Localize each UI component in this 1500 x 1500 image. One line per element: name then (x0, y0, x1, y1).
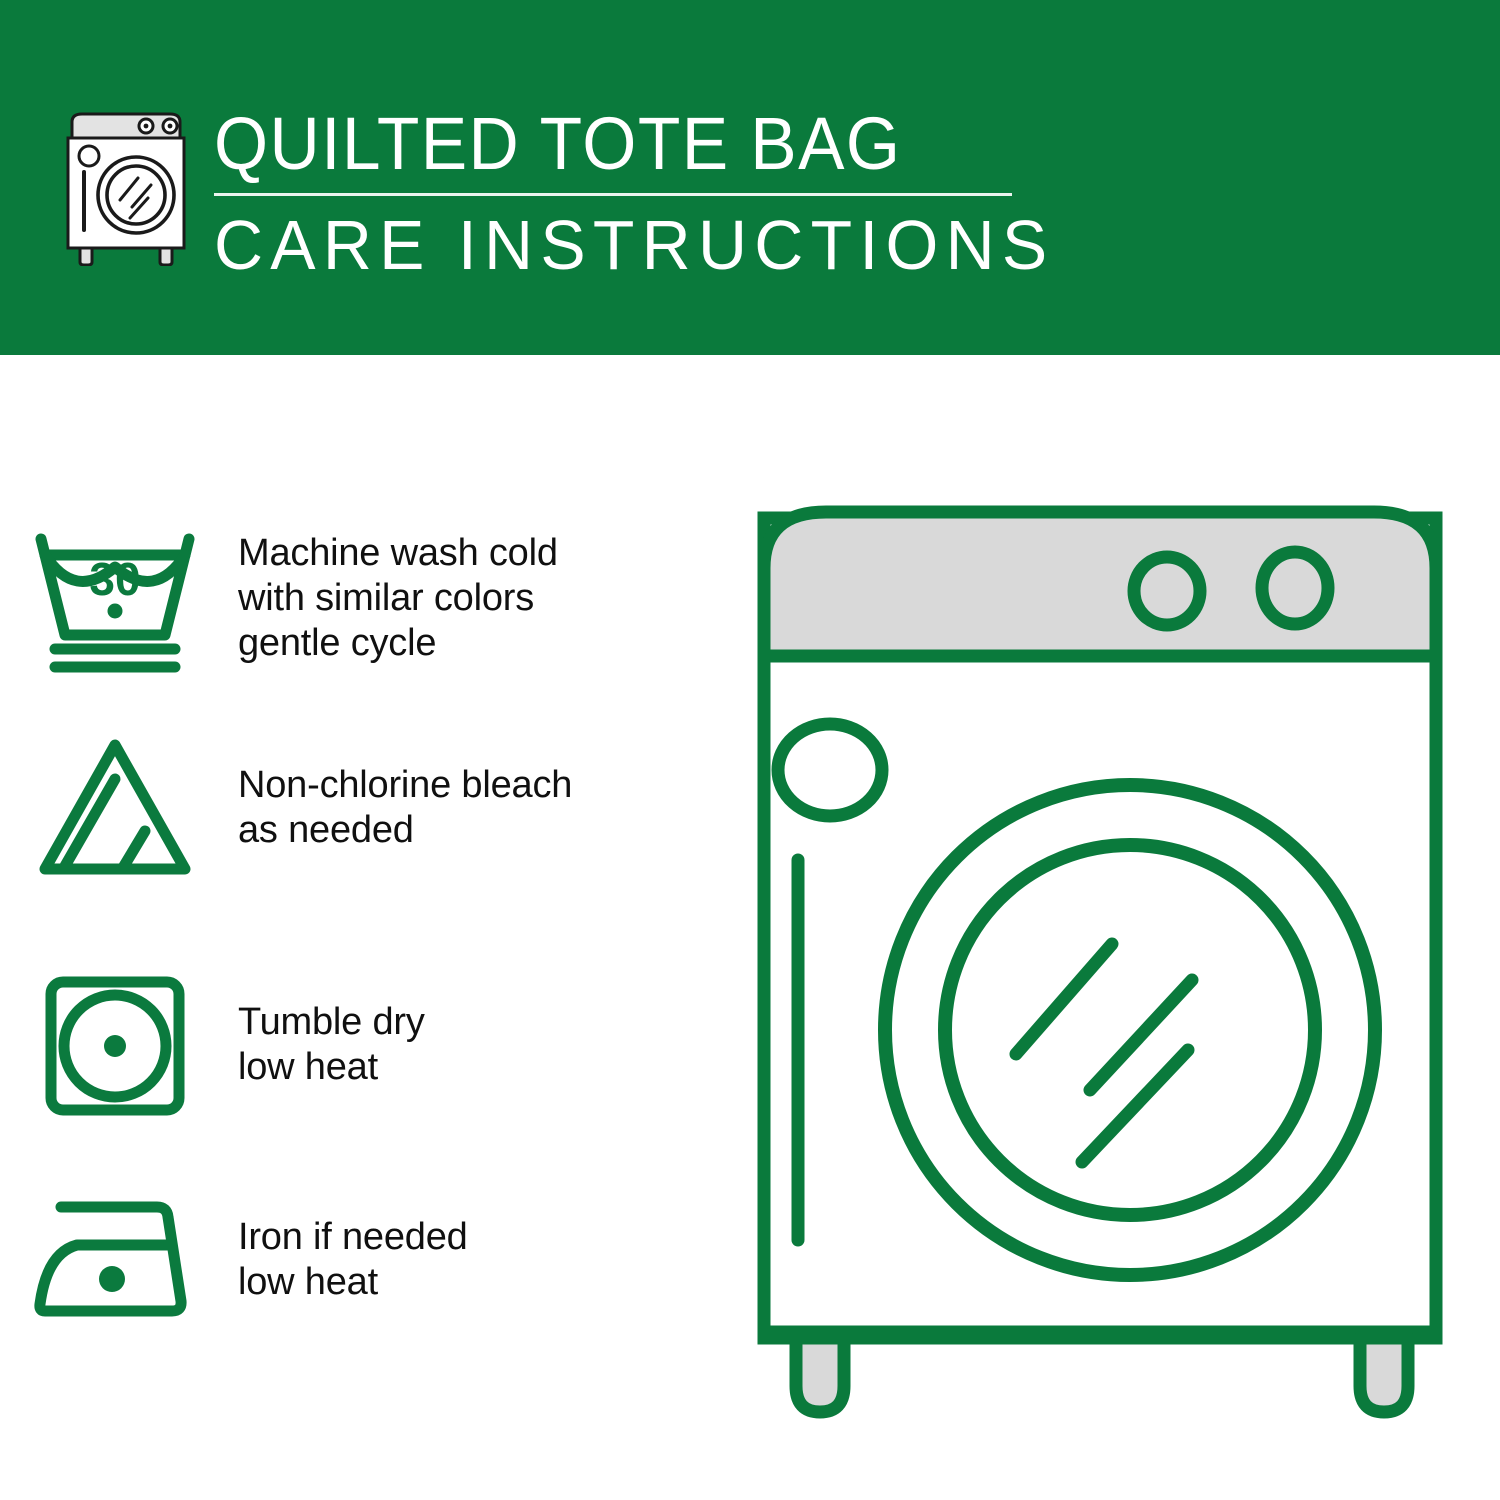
care-label-tumble-dry: Tumble dry low heat (230, 1000, 425, 1090)
foot-left (796, 1338, 844, 1412)
care-line: Tumble dry (238, 1000, 425, 1045)
page-subtitle: CARE INSTRUCTIONS (214, 207, 1009, 283)
care-line: gentle cycle (238, 621, 558, 666)
care-row-bleach: Non-chlorine bleach as needed (0, 723, 740, 893)
care-label-bleach: Non-chlorine bleach as needed (230, 763, 572, 853)
care-line: low heat (238, 1045, 425, 1090)
care-instruction-list: 30 Machine wash cold with similar colors… (0, 355, 740, 1500)
title-divider (214, 193, 1012, 196)
tumble-dry-low-icon (0, 970, 230, 1120)
care-label-machine-wash: Machine wash cold with similar colors ge… (230, 531, 558, 666)
front-load-washing-machine-illustration (740, 470, 1480, 1460)
care-line: low heat (238, 1260, 468, 1305)
care-line: Non-chlorine bleach (238, 763, 572, 808)
care-line: with similar colors (238, 576, 558, 621)
bleach-triangle-stripes-icon (0, 733, 230, 883)
iron-low-icon (0, 1185, 230, 1335)
care-line: Machine wash cold (238, 531, 558, 576)
care-instructions-page: QUILTED TOTE BAG CARE INSTRUCTIONS 30 (0, 0, 1500, 1500)
care-line: as needed (238, 808, 572, 853)
knob-left (1134, 557, 1200, 625)
header-text-block: QUILTED TOTE BAG CARE INSTRUCTIONS (214, 104, 1034, 283)
page-title: QUILTED TOTE BAG (214, 104, 985, 184)
wash-tub-30-gentle-icon: 30 (0, 523, 230, 673)
washing-machine-icon (62, 108, 190, 266)
knob-right (1262, 552, 1328, 624)
foot-right (1360, 1338, 1408, 1412)
care-line: Iron if needed (238, 1215, 468, 1260)
care-row-iron: Iron if needed low heat (0, 1175, 740, 1345)
wash-temperature-label: 30 (89, 553, 140, 605)
care-row-machine-wash: 30 Machine wash cold with similar colors… (0, 503, 740, 693)
care-row-tumble-dry: Tumble dry low heat (0, 960, 740, 1130)
page-header: QUILTED TOTE BAG CARE INSTRUCTIONS (0, 0, 1500, 355)
care-label-iron: Iron if needed low heat (230, 1215, 468, 1305)
